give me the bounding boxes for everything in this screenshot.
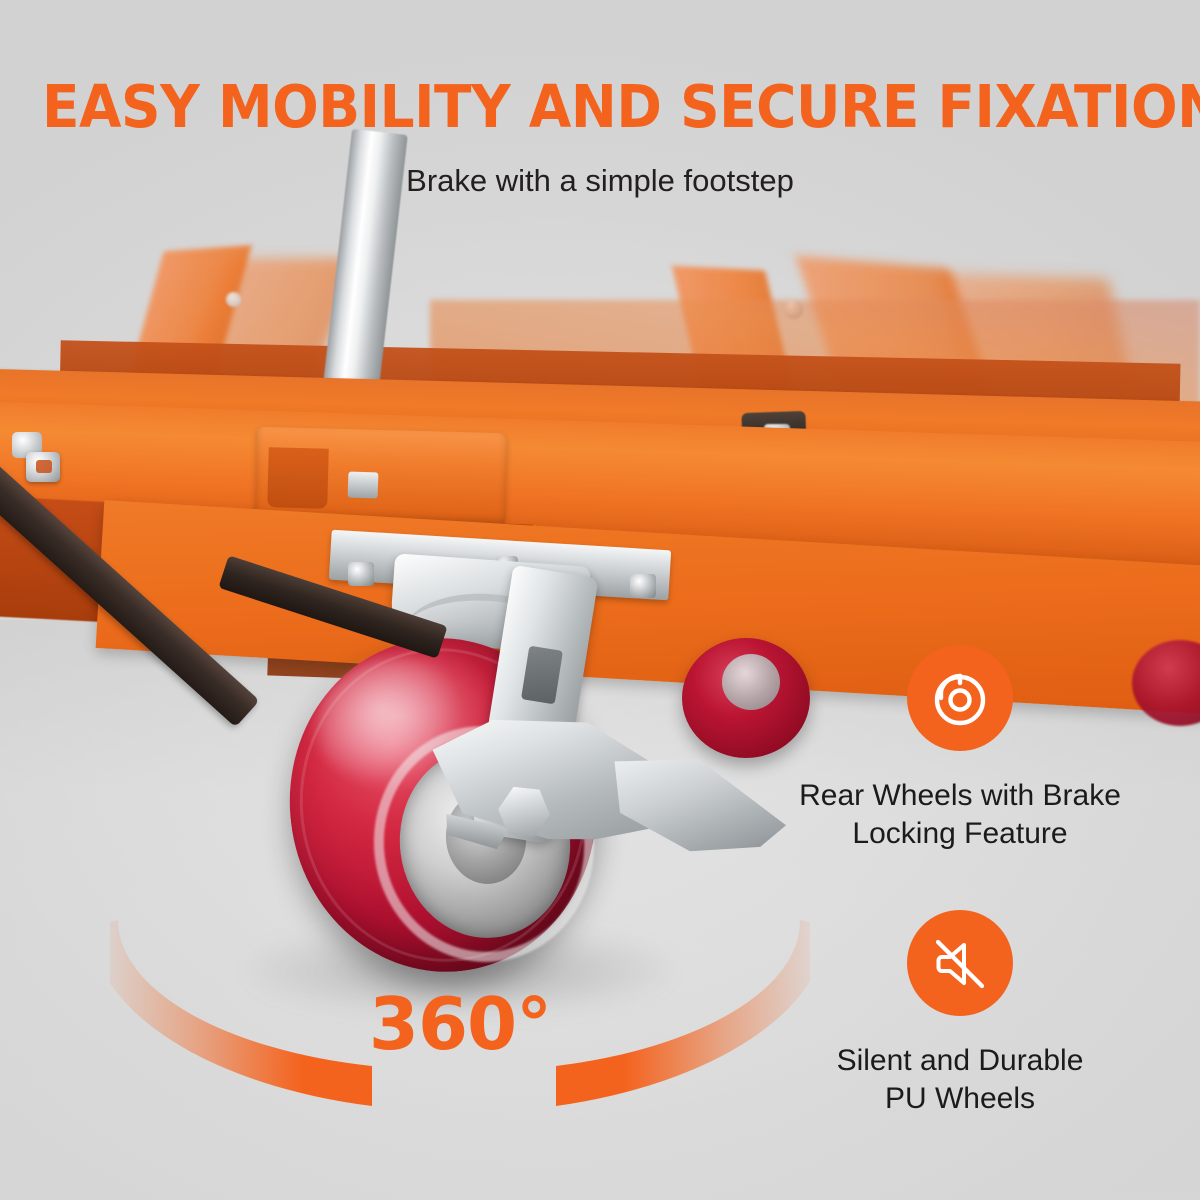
- plate-bolt: [348, 562, 374, 586]
- feature-brake-line-2: Locking Feature: [750, 815, 1170, 853]
- rotation-badge: 360°: [110, 920, 810, 1120]
- plate-bolt: [630, 574, 656, 598]
- feature-silent-caption: Silent and Durable PU Wheels: [750, 1042, 1170, 1119]
- scissor-pin-hole: [226, 292, 241, 307]
- feature-silent-line-2: PU Wheels: [750, 1080, 1170, 1118]
- page-subtitle: Brake with a simple footstep: [0, 163, 1200, 199]
- mute-speaker-icon: [931, 934, 989, 992]
- feature-brake: Rear Wheels with Brake Locking Feature: [750, 645, 1170, 854]
- product-feature-banner: EASY MOBILITY AND SECURE FIXATION Brake …: [0, 0, 1200, 1200]
- brake-icon-badge: [907, 645, 1013, 751]
- brake-disc-icon: [929, 667, 991, 729]
- feature-silent: Silent and Durable PU Wheels: [750, 910, 1170, 1119]
- bracket-notch: [267, 447, 329, 509]
- page-title: EASY MOBILITY AND SECURE FIXATION: [42, 72, 1158, 141]
- silent-icon-badge: [907, 910, 1013, 1016]
- feature-silent-line-1: Silent and Durable: [750, 1042, 1170, 1080]
- feature-brake-line-1: Rear Wheels with Brake: [750, 777, 1170, 815]
- rotation-degree-label: 360°: [110, 982, 810, 1066]
- bracket-hex-bolt: [348, 471, 379, 498]
- pedal-bolt-cap: [36, 460, 52, 473]
- feature-brake-caption: Rear Wheels with Brake Locking Feature: [750, 777, 1170, 854]
